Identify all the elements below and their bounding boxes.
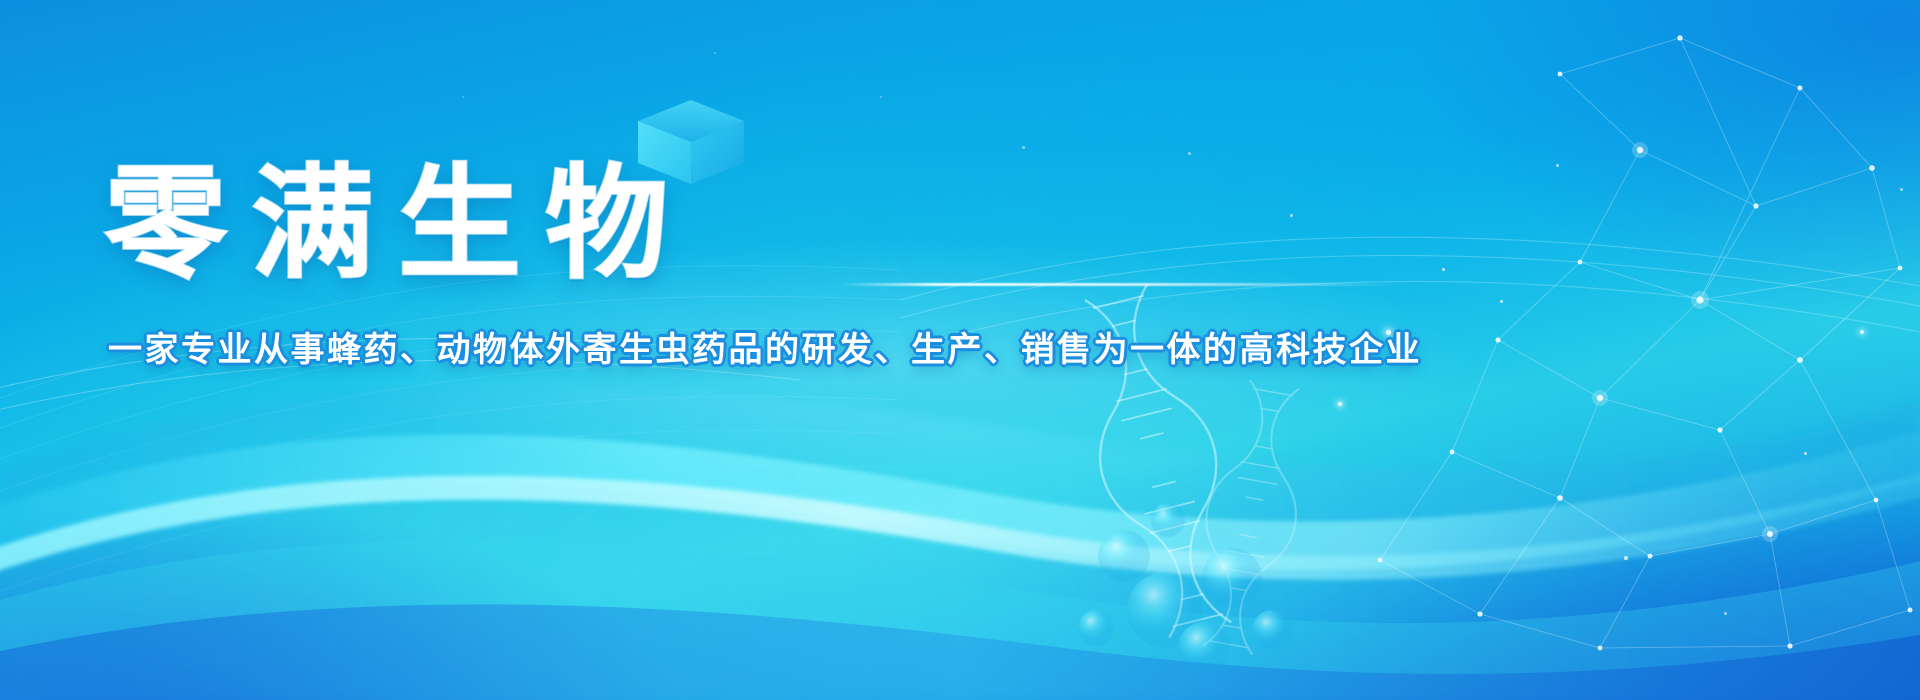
brand-tagline: 一家专业从事蜂药、动物体外寄生虫药品的研发、生产、销售为一体的高科技企业	[108, 322, 1404, 371]
hero-banner: 零满生物 一家专业从事蜂药、动物体外寄生虫药品的研发、生产、销售为一体的高科技企…	[0, 0, 1920, 700]
title-underline-streak	[839, 283, 1399, 286]
brand-text-block: 零满生物 一家专业从事蜂药、动物体外寄生虫药品的研发、生产、销售为一体的高科技企…	[104, 160, 1404, 371]
brand-title: 零满生物	[104, 160, 1404, 290]
